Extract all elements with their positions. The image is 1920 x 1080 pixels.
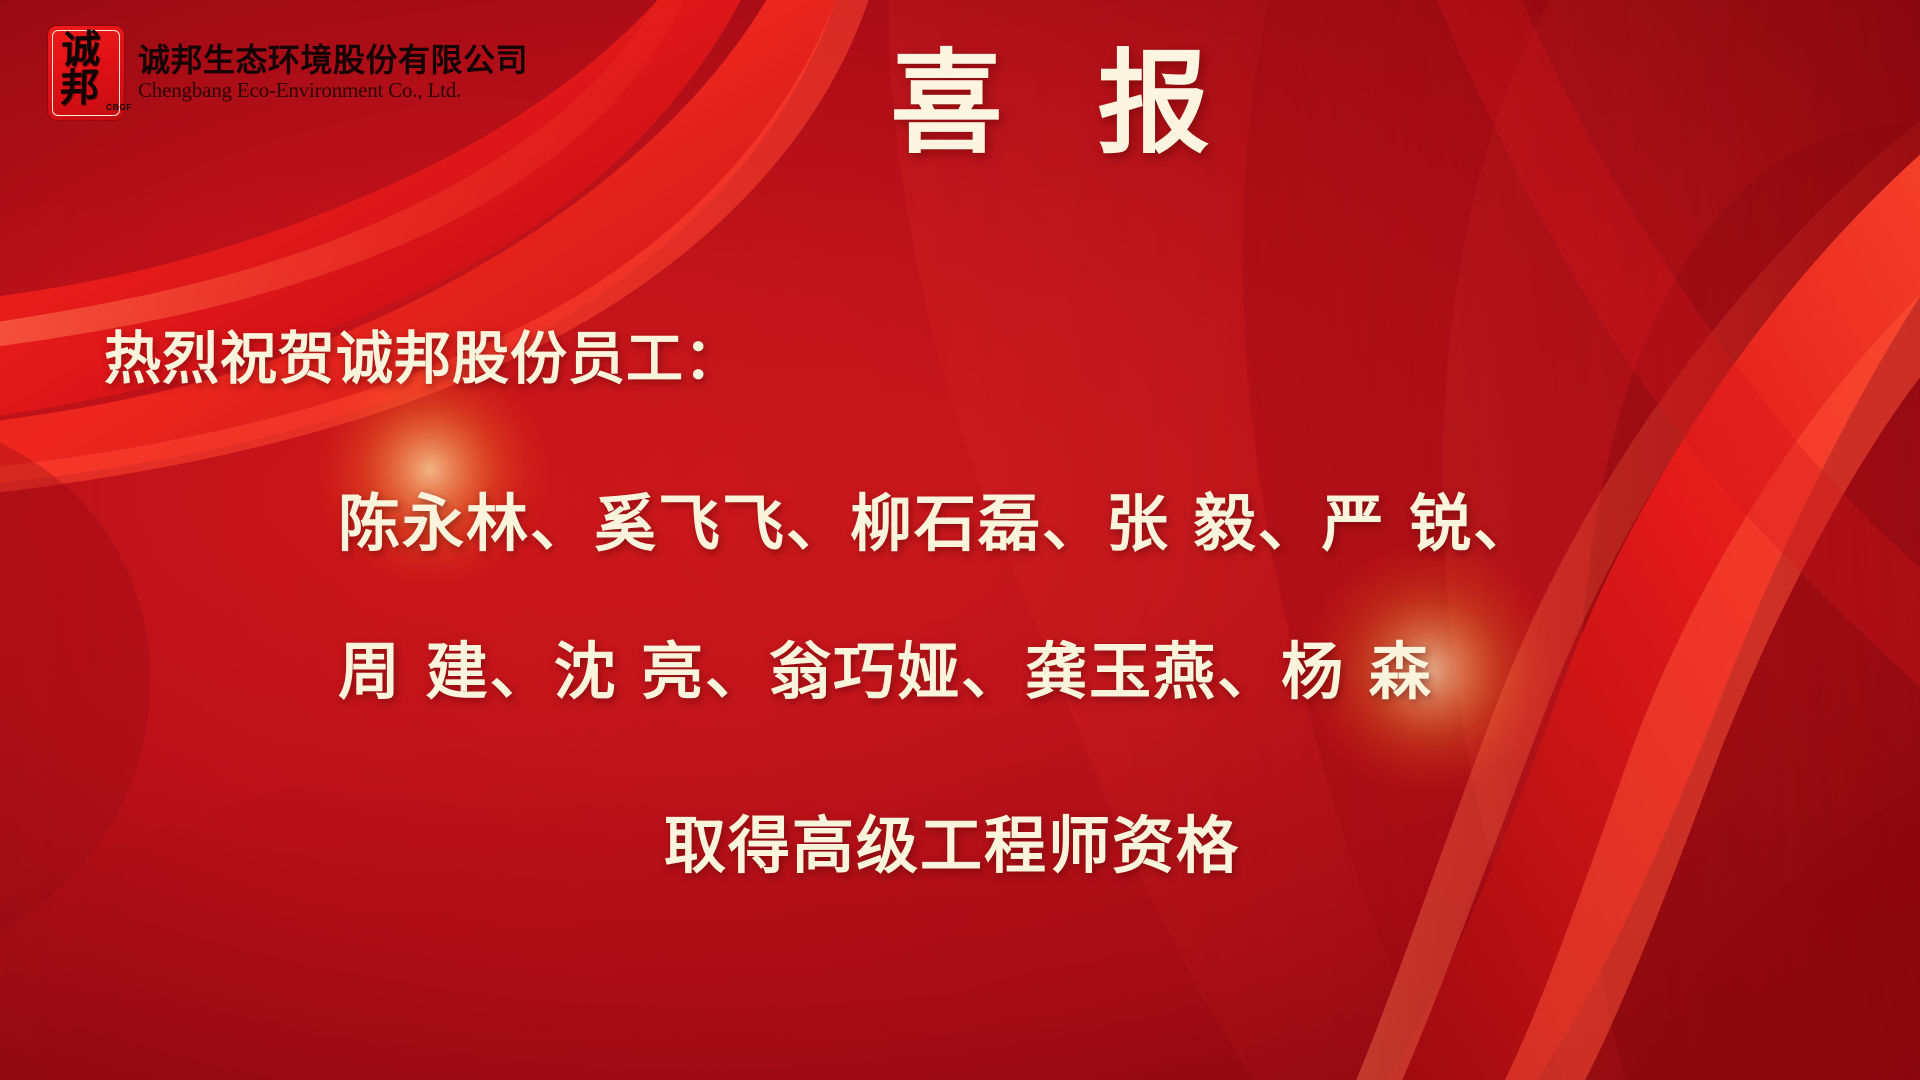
company-name-block: 诚邦生态环境股份有限公司 Chengbang Eco-Environment C… (138, 44, 528, 101)
company-logo: 诚邦 CBGF 诚邦生态环境股份有限公司 Chengbang Eco-Envir… (48, 26, 528, 120)
logo-mark-icon: 诚邦 CBGF (48, 26, 124, 120)
logo-mark-calligraphy: 诚邦 (53, 30, 104, 116)
company-name-cn: 诚邦生态环境股份有限公司 (138, 44, 528, 78)
honoree-names-line-1: 陈永林、奚飞飞、柳石磊、张 毅、严 锐、 (338, 473, 1537, 563)
company-name-en: Chengbang Eco-Environment Co., Ltd. (138, 79, 528, 101)
honoree-names-line-2: 周 建、沈 亮、翁巧娅、龚玉燕、杨 森 (338, 621, 1433, 711)
award-line: 取得高级工程师资格 (664, 795, 1240, 885)
greeting-line: 热烈祝贺诚邦股份员工： (104, 313, 742, 395)
congratulation-poster: 诚邦 CBGF 诚邦生态环境股份有限公司 Chengbang Eco-Envir… (0, 0, 1920, 1080)
logo-mark-initials: CBGF (106, 102, 117, 112)
page-title: 喜 报 (840, 38, 1260, 170)
